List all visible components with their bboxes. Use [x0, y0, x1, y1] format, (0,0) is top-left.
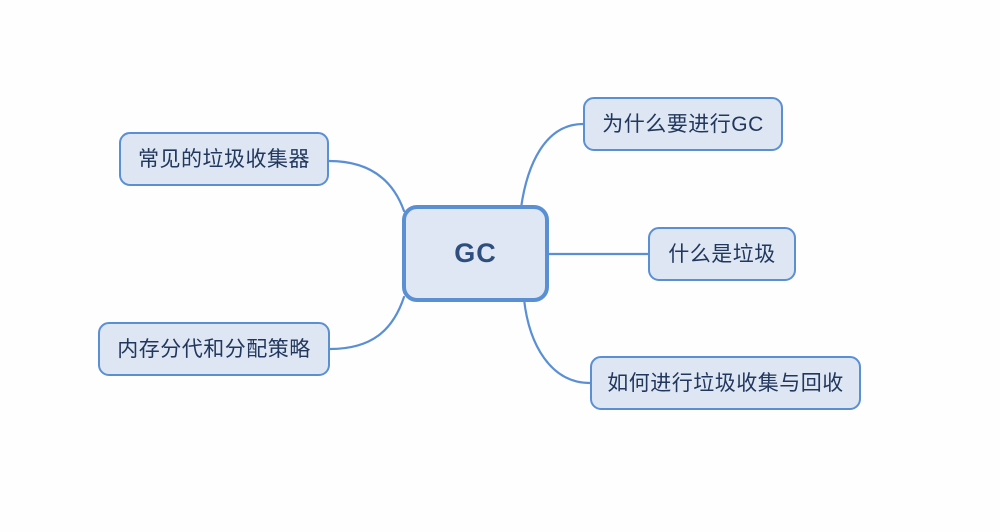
branch-node-label: 为什么要进行GC	[602, 114, 764, 135]
branch-node-why-gc[interactable]: 为什么要进行GC	[583, 97, 783, 151]
branch-node-label: 内存分代和分配策略	[117, 339, 311, 360]
branch-node-label: 什么是垃圾	[668, 244, 776, 265]
root-node-label: GC	[454, 240, 497, 267]
connector-why-gc	[521, 124, 583, 208]
mindmap-canvas: GC 常见的垃圾收集器 内存分代和分配策略 为什么要进行GC 什么是垃圾 如何进…	[0, 0, 1000, 532]
connector-how-to-collect	[524, 299, 590, 383]
branch-node-label: 常见的垃圾收集器	[138, 149, 310, 170]
branch-node-common-collectors[interactable]: 常见的垃圾收集器	[119, 132, 329, 186]
branch-node-label: 如何进行垃圾收集与回收	[607, 373, 844, 394]
connector-memory-generation	[330, 297, 404, 349]
root-node-gc[interactable]: GC	[402, 205, 549, 302]
branch-node-what-is-garbage[interactable]: 什么是垃圾	[648, 227, 796, 281]
connector-common-collectors	[329, 161, 404, 211]
branch-node-memory-generation-allocation[interactable]: 内存分代和分配策略	[98, 322, 330, 376]
branch-node-how-to-collect[interactable]: 如何进行垃圾收集与回收	[590, 356, 861, 410]
